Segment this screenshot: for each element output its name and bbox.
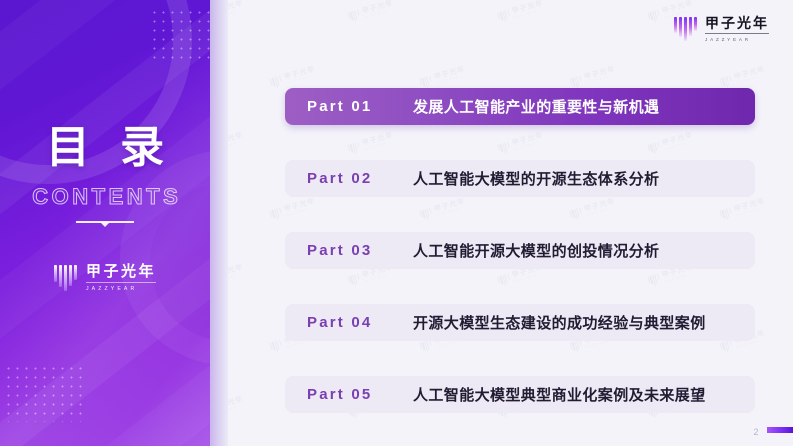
toc-item-part-number: Part 02 (285, 170, 413, 187)
watermark-name-en: JAZZYEAR (228, 8, 245, 19)
toc-item-part-number: Part 03 (285, 242, 413, 259)
jazzyear-bars-logo-icon (269, 340, 282, 354)
jazzyear-bars-logo-icon (647, 10, 660, 24)
watermark-text: 甲子光年JAZZYEAR (361, 0, 395, 19)
toc-item-part-number: Part 04 (285, 314, 413, 331)
logo-lockup: 甲子光年 JAZZYEAR (54, 264, 156, 292)
watermark-name-en: JAZZYEAR (228, 404, 245, 415)
title-underline-divider (76, 221, 134, 223)
jazzyear-bars-logo-icon (674, 17, 697, 41)
watermark-name-cn: 甲子光年 (733, 66, 766, 82)
watermark-name-cn: 甲子光年 (228, 264, 244, 280)
logo-divider (86, 282, 156, 283)
watermark-name-cn: 甲子光年 (433, 66, 466, 82)
watermark-name-en: JAZZYEAR (286, 74, 317, 85)
toc-item-title: 开源大模型生态建设的成功经验与典型案例 (413, 312, 706, 333)
logo-text: 甲子光年 JAZZYEAR (86, 264, 156, 292)
toc-list: Part 01 发展人工智能产业的重要性与新机遇 Part 02 人工智能大模型… (285, 88, 755, 446)
watermark-name-en: JAZZYEAR (736, 74, 767, 85)
watermark-name-cn: 甲子光年 (283, 66, 316, 82)
watermark-name-cn: 甲子光年 (583, 66, 616, 82)
watermark-text: 甲子光年JAZZYEAR (228, 396, 245, 415)
watermark-text: 甲子光年JAZZYEAR (228, 264, 245, 283)
jazzyear-bars-logo-icon (347, 10, 360, 24)
watermark-text: 甲子光年JAZZYEAR (228, 0, 245, 19)
watermark-text: 甲子光年JAZZYEAR (283, 66, 317, 85)
logo-name-cn: 甲子光年 (86, 264, 156, 279)
watermark-mark: 甲子光年JAZZYEAR (347, 0, 395, 23)
watermark-name-en: JAZZYEAR (436, 74, 467, 85)
watermark-mark: 甲子光年JAZZYEAR (228, 0, 245, 23)
watermark-mark: 甲子光年JAZZYEAR (497, 0, 545, 23)
watermark-name-cn: 甲子光年 (228, 0, 244, 15)
page-title: 目 录 (37, 126, 173, 170)
watermark-name-en: JAZZYEAR (586, 74, 617, 85)
brand-logo: 甲子光年 JAZZYEAR (674, 16, 769, 43)
toc-item-part-03[interactable]: Part 03 人工智能开源大模型的创投情况分析 (285, 232, 755, 269)
watermark-mark: 甲子光年JAZZYEAR (719, 66, 767, 90)
toc-item-part-02[interactable]: Part 02 人工智能大模型的开源生态体系分析 (285, 160, 755, 197)
brand-name-cn: 甲子光年 (705, 16, 769, 30)
brand-name-en: JAZZYEAR (705, 38, 769, 43)
watermark-name-en: JAZZYEAR (364, 8, 395, 19)
page-number: 2 (753, 427, 759, 437)
logo-name-en: JAZZYEAR (86, 287, 156, 292)
watermark-text: 甲子光年JAZZYEAR (433, 66, 467, 85)
toc-item-title: 人工智能大模型典型商业化案例及未来展望 (413, 384, 706, 405)
watermark-name-cn: 甲子光年 (661, 0, 694, 15)
watermark-name-cn: 甲子光年 (361, 0, 394, 15)
page-title-subtitle: CONTENTS (29, 186, 182, 208)
watermark-text: 甲子光年JAZZYEAR (733, 66, 767, 85)
watermark-text: 甲子光年JAZZYEAR (511, 0, 545, 19)
watermark-text: 甲子光年JAZZYEAR (583, 66, 617, 85)
toc-item-title: 发展人工智能产业的重要性与新机遇 (413, 96, 659, 117)
toc-item-part-05[interactable]: Part 05 人工智能大模型典型商业化案例及未来展望 (285, 376, 755, 413)
slide-root: 目 录 CONTENTS 甲子光年 JAZZYEAR 甲子光年JAZZYEAR甲… (0, 0, 793, 446)
toc-item-part-01[interactable]: Part 01 发展人工智能产业的重要性与新机遇 (285, 88, 755, 125)
jazzyear-bars-logo-icon (54, 265, 77, 291)
sidebar-content: 目 录 CONTENTS (0, 0, 210, 446)
toc-item-part-04[interactable]: Part 04 开源大模型生态建设的成功经验与典型案例 (285, 304, 755, 341)
toc-item-part-number: Part 05 (285, 386, 413, 403)
watermark-name-en: JAZZYEAR (228, 140, 245, 151)
toc-item-part-number: Part 01 (285, 98, 413, 115)
jazzyear-bars-logo-icon (497, 10, 510, 24)
sidebar-edge-strip (210, 0, 228, 446)
watermark-mark: 甲子光年JAZZYEAR (228, 132, 245, 156)
main-panel: 甲子光年JAZZYEAR甲子光年JAZZYEAR甲子光年JAZZYEAR甲子光年… (228, 0, 793, 446)
watermark-mark: 甲子光年JAZZYEAR (569, 66, 617, 90)
watermark-name-en: JAZZYEAR (228, 272, 245, 283)
watermark-mark: 甲子光年JAZZYEAR (269, 66, 317, 90)
watermark-mark: 甲子光年JAZZYEAR (228, 396, 245, 420)
watermark-name-cn: 甲子光年 (511, 0, 544, 15)
toc-item-title: 人工智能开源大模型的创投情况分析 (413, 240, 659, 261)
watermark-name-cn: 甲子光年 (228, 132, 244, 148)
page-accent-bar (767, 427, 793, 433)
watermark-name-cn: 甲子光年 (228, 396, 244, 412)
jazzyear-bars-logo-icon (269, 208, 282, 222)
sidebar-logo: 甲子光年 JAZZYEAR (0, 264, 210, 292)
watermark-text: 甲子光年JAZZYEAR (228, 132, 245, 151)
toc-item-title: 人工智能大模型的开源生态体系分析 (413, 168, 659, 189)
watermark-mark: 甲子光年JAZZYEAR (419, 66, 467, 90)
brand-logo-divider (705, 33, 769, 34)
watermark-mark: 甲子光年JAZZYEAR (228, 264, 245, 288)
sidebar-panel: 目 录 CONTENTS 甲子光年 JAZZYEAR (0, 0, 228, 446)
jazzyear-bars-logo-icon (269, 76, 282, 90)
watermark-name-en: JAZZYEAR (514, 8, 545, 19)
brand-logo-text: 甲子光年 JAZZYEAR (705, 16, 769, 43)
